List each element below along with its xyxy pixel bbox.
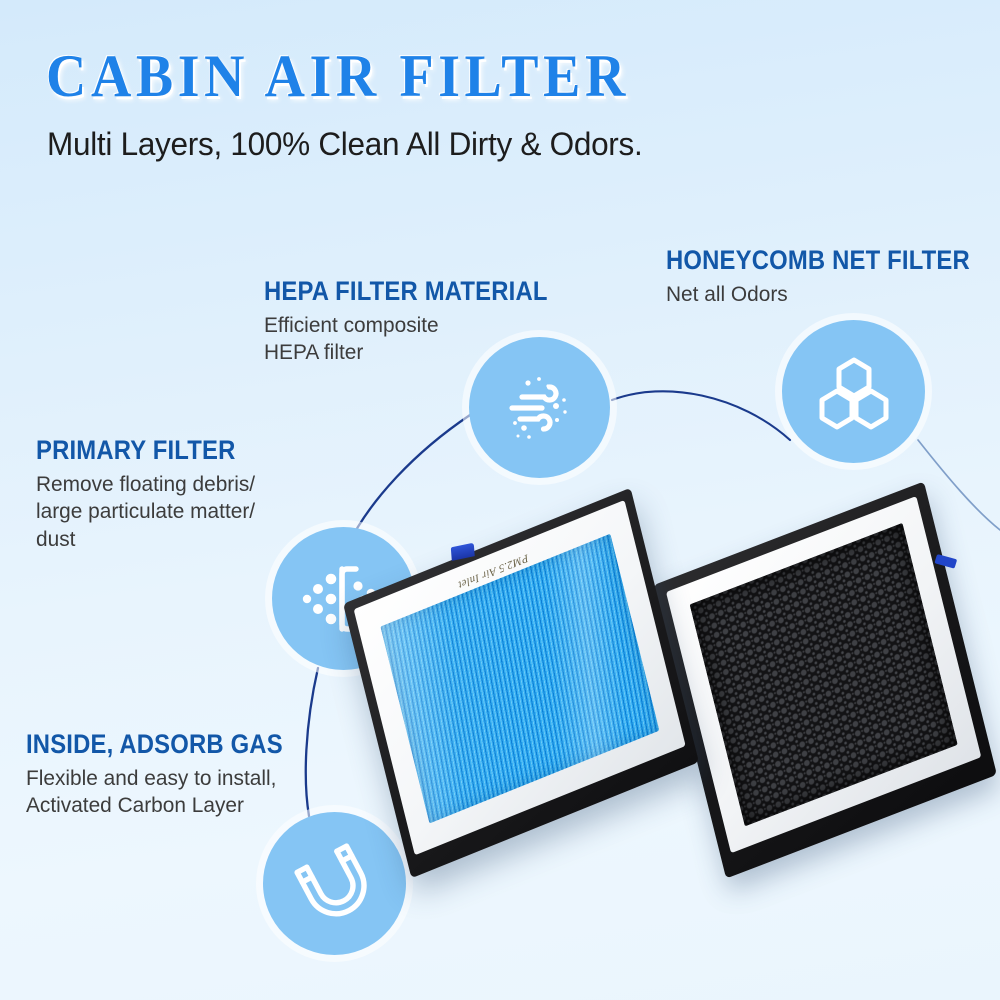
icon-badge-hepa [469,337,610,478]
hepa-filter-white-frame: PM2.5 Air Inlet [354,500,686,855]
feature-desc-line: dust [36,526,255,553]
page-subtitle: Multi Layers, 100% Clean All Dirty & Odo… [47,126,642,163]
feature-desc-line: Flexible and easy to install, [26,765,303,792]
feature-desc-line: Net all Odors [666,281,994,308]
blue-hepa-pleated-filter: PM2.5 Air Inlet [343,488,699,878]
feature-desc-line: Efficient composite [264,312,570,339]
icon-badge-honeycomb [782,320,925,463]
feature-inside-adsorb-gas: INSIDE, ADSORB GAS Flexible and easy to … [26,729,311,820]
connector-path-honeycomb-to-hepa [612,391,790,440]
feature-honeycomb-net-filter: HONEYCOMB NET FILTER Net all Odors [666,245,1000,308]
feature-desc-line: Activated Carbon Layer [26,792,303,819]
feature-heading: HEPA FILTER MATERIAL [264,276,548,307]
product-photo: PM2.5 Air Inlet [360,515,1000,915]
feature-heading: INSIDE, ADSORB GAS [26,729,283,760]
wind-airflow-icon [498,366,582,450]
infographic-page: CABIN AIR FILTER Multi Layers, 100% Clea… [0,0,1000,1000]
feature-heading: HONEYCOMB NET FILTER [666,245,970,276]
page-title: CABIN AIR FILTER [46,42,630,111]
feature-primary-filter: PRIMARY FILTER Remove floating debris/ l… [36,435,262,553]
honeycomb-icon [812,350,896,434]
carbon-filter-honeycomb-mesh [690,523,958,827]
feature-heading: PRIMARY FILTER [36,435,239,466]
activated-carbon-honeycomb-filter [653,481,997,878]
feature-desc-line: large particulate matter/ [36,498,255,525]
feature-desc-line: Remove floating debris/ [36,471,255,498]
